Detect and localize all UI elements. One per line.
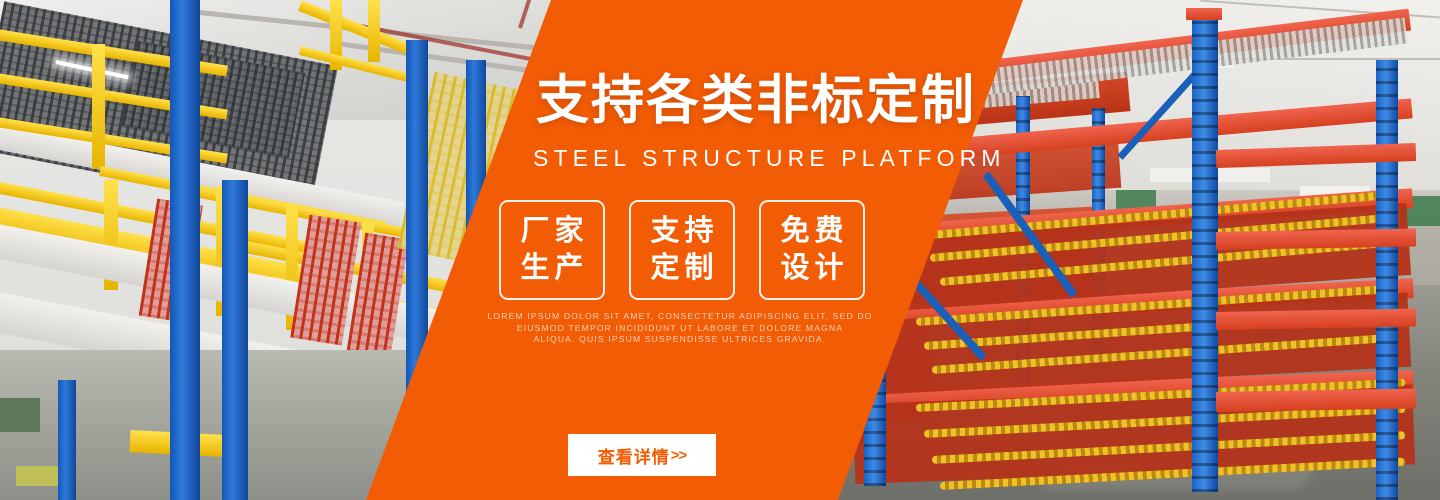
subtitle: STEEL STRUCTURE PLATFORM	[533, 145, 1006, 172]
feature-badge-group: 厂家 生产 支持 定制 免费 设计	[499, 200, 865, 300]
badge-line-2: 定制	[645, 251, 718, 286]
description-line-1: LOREM IPSUM DOLOR SIT AMET, CONSECTETUR …	[420, 311, 940, 323]
description-text: LOREM IPSUM DOLOR SIT AMET, CONSECTETUR …	[420, 311, 940, 346]
double-chevron-right-icon: >>	[671, 447, 687, 464]
description-line-3: ALIQUA. QUIS IPSUM SUSPENDISSE ULTRICES …	[420, 334, 940, 346]
badge-line-2: 设计	[775, 251, 848, 286]
badge-line-1: 支持	[645, 214, 718, 249]
feature-badge-customization[interactable]: 支持 定制	[629, 200, 735, 300]
feature-badge-free-design[interactable]: 免费 设计	[759, 200, 865, 300]
badge-line-1: 免费	[775, 214, 848, 249]
page-title: 支持各类非标定制	[536, 74, 976, 127]
panel-content: 支持各类非标定制 STEEL STRUCTURE PLATFORM 厂家 生产 …	[0, 0, 1440, 500]
promo-banner: 支持各类非标定制 STEEL STRUCTURE PLATFORM 厂家 生产 …	[0, 0, 1440, 500]
view-details-label: 查看详情	[598, 443, 670, 468]
badge-line-2: 生产	[515, 251, 588, 286]
description-line-2: EIUSMOD TEMPOR INCIDIDUNT UT LABORE ET D…	[420, 323, 940, 335]
badge-line-1: 厂家	[515, 214, 588, 249]
feature-badge-manufacturer[interactable]: 厂家 生产	[499, 200, 605, 300]
view-details-button[interactable]: 查看详情 >>	[568, 434, 716, 476]
